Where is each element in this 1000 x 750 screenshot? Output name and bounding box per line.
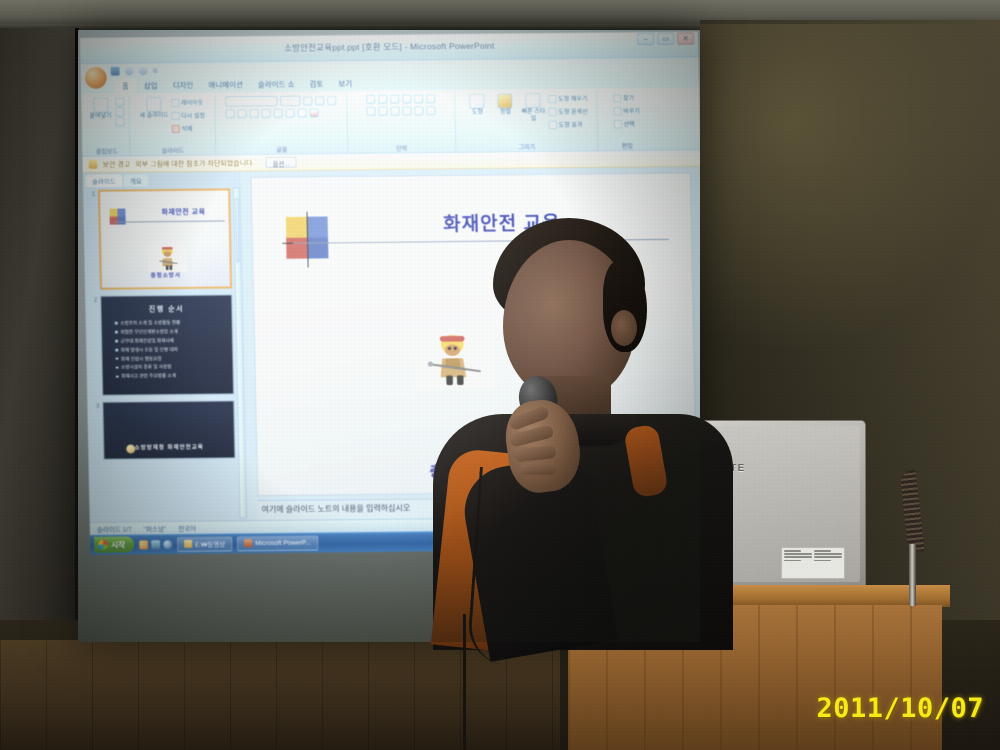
ribbon-group-slides[interactable]: 새 슬라이드 레이아웃 다시 설정	[129, 95, 216, 156]
show-desktop-icon[interactable]	[151, 540, 160, 549]
shapes-button[interactable]: 도형	[464, 94, 490, 117]
wall-right-highlight	[700, 24, 1000, 354]
reset-icon	[171, 111, 179, 119]
language-indicator[interactable]: 한국어	[178, 523, 196, 533]
label-line	[784, 553, 812, 555]
customize-qat-icon[interactable]	[153, 68, 158, 73]
find-button[interactable]: 찾기	[613, 92, 640, 103]
ribbon-group-clipboard[interactable]: 붙여넣기 클립보드	[83, 95, 130, 155]
camera-date-stamp: 2011/10/07	[816, 693, 984, 724]
reset-button[interactable]: 다시 설정	[171, 110, 205, 121]
thumbnail-item[interactable]: 3 소방방재청 화재안전교육	[93, 400, 243, 460]
tab-view[interactable]: 보기	[331, 77, 359, 91]
list-item-label: 소방시설의 종류 및 사용법	[121, 364, 171, 370]
shape-effects-label: 도형 효과	[559, 120, 583, 129]
taskbar-item-label: Microsoft PowerP...	[255, 539, 311, 547]
replace-label: 바꾸기	[623, 106, 640, 115]
title-underline	[113, 220, 225, 222]
window-title: 소방안전교육ppt.ppt [호환 모드] - Microsoft PowerP…	[80, 38, 698, 56]
label-line	[784, 560, 801, 562]
grow-font-icon[interactable]	[303, 96, 312, 105]
lecture-room: 소방안전교육ppt.ppt [호환 모드] - Microsoft PowerP…	[0, 0, 1000, 750]
replace-icon	[613, 107, 621, 115]
label-line	[784, 550, 801, 552]
bullets-icon[interactable]	[366, 95, 375, 104]
media-player-icon[interactable]	[163, 540, 172, 549]
finger	[520, 463, 556, 475]
minimize-icon[interactable]: –	[637, 33, 654, 45]
tab-outline[interactable]: 개요	[124, 174, 148, 186]
shrink-font-icon[interactable]	[315, 96, 324, 105]
layout-label: 레이아웃	[181, 98, 203, 107]
label-line	[814, 550, 831, 552]
start-label: 시작	[111, 539, 125, 550]
character-spacing-icon[interactable]	[285, 109, 294, 118]
thumbnail-list[interactable]: 1 화재안전 교육	[83, 185, 248, 522]
font-family-select[interactable]	[225, 96, 277, 107]
office-button-icon[interactable]	[84, 66, 108, 90]
select-label: 선택	[623, 119, 634, 128]
font-size-select[interactable]	[280, 96, 300, 106]
thumbnail-slide-2[interactable]: 진행 순서 소방조직 소개 및 소방활동 현황 위험한 무인인계판소방장 소개 …	[100, 294, 234, 395]
group-label-slides: 슬라이드	[130, 146, 215, 156]
start-button[interactable]: 시작	[94, 536, 134, 552]
paste-button[interactable]: 붙여넣기	[87, 98, 113, 121]
powerpoint-icon	[244, 539, 252, 547]
quick-styles-label: 빠른 스타일	[520, 109, 546, 122]
arrange-label: 정렬	[500, 109, 511, 116]
warning-shield-icon	[88, 160, 97, 169]
cursor-select-icon	[613, 120, 621, 128]
finger	[513, 445, 556, 462]
tab-slideshow[interactable]: 슬라이드 쇼	[251, 78, 302, 93]
windows-logo-icon	[98, 540, 108, 550]
list-item: 군부대 화재진압및 화재사례	[115, 337, 226, 344]
font-color-icon[interactable]	[309, 109, 318, 118]
replace-button[interactable]: 바꾸기	[613, 105, 640, 116]
security-warning-message: 외부 그림에 대한 참조가 차단되었습니다.	[135, 158, 254, 169]
columns-icon[interactable]	[414, 106, 423, 115]
list-item-label: 소방조직 소개 및 소방활동 현황	[120, 320, 180, 326]
redo-icon[interactable]	[139, 66, 148, 75]
list-item-label: 화재사고 관련 주요법률 소개	[121, 373, 176, 379]
gooseneck	[900, 469, 924, 552]
tab-design[interactable]: 디자인	[166, 79, 201, 93]
presenter-person	[415, 218, 735, 638]
scrollbar-thumb[interactable]	[235, 198, 239, 262]
asset-label-column-right	[814, 550, 842, 576]
bullet-icon	[115, 358, 118, 361]
bullet-icon	[116, 375, 119, 378]
undo-icon[interactable]	[125, 66, 134, 75]
shape-effects-icon	[549, 121, 557, 129]
cut-icon[interactable]	[115, 98, 124, 107]
close-icon[interactable]: ✕	[677, 33, 694, 45]
folder-icon	[184, 540, 192, 548]
ribbon-group-editing[interactable]: 찾기 바꾸기 선택	[597, 90, 656, 151]
ribbon-group-paragraph[interactable]: 단락	[347, 92, 456, 153]
thumbnail-item[interactable]: 1 화재안전 교육	[89, 188, 240, 290]
ribbon-group-font[interactable]: 글꼴	[215, 93, 348, 154]
thumbnail-title: 진행 순서	[101, 303, 231, 314]
underline-icon[interactable]	[249, 109, 258, 118]
label-line	[814, 556, 842, 558]
decrease-indent-icon[interactable]	[390, 95, 399, 104]
bullet-icon	[115, 340, 118, 343]
select-button[interactable]: 선택	[613, 118, 640, 129]
group-label-paragraph: 단락	[348, 143, 455, 153]
paste-label: 붙여넣기	[89, 114, 111, 121]
logo-squares-icon	[286, 216, 331, 260]
security-warning-label: 보안 경고	[102, 159, 130, 169]
slide-thumbnail-pane[interactable]: 슬라이드 개요 1	[83, 171, 248, 522]
bold-icon[interactable]	[225, 109, 234, 118]
ear	[611, 310, 637, 346]
internet-explorer-icon[interactable]	[139, 540, 148, 549]
tab-animations[interactable]: 애니메이션	[201, 78, 250, 93]
security-options-button[interactable]: 옵션...	[265, 157, 297, 168]
taskbar-item-powerpoint[interactable]: Microsoft PowerP...	[237, 535, 318, 551]
label-line	[784, 556, 812, 558]
quick-styles-icon	[526, 93, 541, 108]
layout-button[interactable]: 레이아웃	[171, 97, 205, 108]
restore-icon[interactable]: ▭	[657, 33, 674, 45]
new-slide-label: 새 슬라이드	[140, 113, 169, 120]
shape-fill-button[interactable]: 도형 채우기	[548, 93, 588, 104]
ribbon[interactable]: 홈 삽입 디자인 애니메이션 슬라이드 쇼 검토 보기 붙여넣기	[81, 58, 700, 157]
text-direction-icon[interactable]	[426, 94, 435, 103]
list-item: 화재 발생시 초등 및 인명 대피	[115, 346, 226, 353]
thumbnail-subtitle: 충청소방서	[102, 270, 230, 279]
thumbnail-number: 3	[93, 402, 100, 460]
shapes-icon	[470, 94, 485, 109]
delete-icon	[171, 124, 179, 132]
taskbar-item-label: E:₩동영상	[195, 538, 225, 548]
ribbon-body[interactable]: 붙여넣기 클립보드	[81, 88, 700, 156]
align-left-icon[interactable]	[366, 107, 375, 116]
tab-slides[interactable]: 슬라이드	[86, 175, 122, 187]
format-painter-icon[interactable]	[116, 118, 125, 127]
numbering-icon[interactable]	[378, 95, 387, 104]
arrange-icon	[498, 93, 513, 108]
save-icon[interactable]	[111, 67, 120, 76]
list-item: 소방조직 소개 및 소방활동 현황	[115, 319, 226, 326]
thumbnail-footer: 소방방재청 화재안전교육	[104, 442, 234, 451]
text-shadow-icon[interactable]	[261, 109, 270, 118]
shape-outline-label: 도형 윤곽선	[558, 107, 587, 116]
justify-icon[interactable]	[402, 107, 411, 116]
quick-launch-bar[interactable]	[139, 540, 172, 549]
align-right-icon[interactable]	[390, 107, 399, 116]
taskbar-item-folder[interactable]: E:₩동영상	[177, 536, 233, 552]
microphone-cable-lower	[463, 614, 483, 750]
group-label-drawing: 그리기	[456, 142, 597, 152]
theme-name: "퍼스널"	[144, 523, 167, 533]
slide-counter: 슬라이드 1/7	[97, 523, 132, 533]
firefighter-mascot-icon	[148, 242, 187, 272]
thumbnail-number: 2	[91, 296, 99, 396]
firefighter-svg	[149, 243, 186, 271]
bullet-icon	[116, 366, 119, 369]
thumbnail-slide-1[interactable]: 화재안전 교육	[98, 188, 232, 289]
bullet-icon	[115, 331, 118, 334]
group-label-editing: 편집	[598, 141, 656, 151]
italic-icon[interactable]	[237, 109, 246, 118]
shape-fill-icon	[548, 95, 556, 103]
list-item: 위험한 무인인계판소방장 소개	[115, 328, 226, 335]
delete-label: 삭제	[181, 124, 192, 133]
label-line	[814, 553, 842, 555]
shape-effects-button[interactable]: 도형 효과	[549, 119, 589, 130]
paste-icon	[93, 98, 108, 113]
new-slide-button[interactable]: 새 슬라이드	[139, 97, 169, 120]
thumbnail-bullet-list: 소방조직 소개 및 소방활동 현황 위험한 무인인계판소방장 소개 군부대 화재…	[115, 319, 227, 382]
wall-left	[0, 28, 78, 668]
arrange-button[interactable]: 정렬	[492, 93, 518, 116]
gooseneck-microphone	[900, 470, 926, 602]
increase-indent-icon[interactable]	[402, 95, 411, 104]
logo-squares-icon	[109, 209, 126, 226]
asset-label-column-left	[784, 550, 812, 576]
thumbnail-title: 화재안전 교육	[140, 206, 226, 217]
search-icon	[613, 94, 621, 102]
label-line	[814, 560, 831, 562]
thumbnail-slide-3[interactable]: 소방방재청 화재안전교육	[102, 400, 235, 459]
reset-label: 다시 설정	[181, 111, 205, 120]
quick-styles-button[interactable]: 빠른 스타일	[520, 93, 547, 122]
align-center-icon[interactable]	[378, 107, 387, 116]
find-label: 찾기	[623, 93, 634, 102]
change-case-icon[interactable]	[297, 109, 306, 118]
tab-home[interactable]: 홈	[115, 79, 136, 93]
shapes-label: 도형	[472, 110, 483, 117]
ribbon-group-drawing[interactable]: 도형 정렬 빠른 스타일	[455, 91, 598, 152]
list-item-label: 화재 진압시 행동요령	[121, 356, 162, 362]
window-controls[interactable]: – ▭ ✕	[637, 33, 694, 46]
list-item-label: 화재 발생시 초등 및 인명 대피	[121, 347, 178, 353]
group-label-font: 글꼴	[216, 144, 347, 154]
bullet-icon	[115, 322, 118, 325]
shape-outline-icon	[548, 108, 556, 116]
list-item-label: 위험한 무인인계판소방장 소개	[120, 329, 178, 335]
shape-outline-button[interactable]: 도형 윤곽선	[548, 106, 588, 117]
copy-icon[interactable]	[115, 108, 124, 117]
list-item: 화재사고 관련 주요법률 소개	[116, 373, 227, 380]
thumbnail-number: 1	[89, 190, 97, 290]
strikethrough-icon[interactable]	[273, 109, 282, 118]
convert-to-smartart-icon[interactable]	[426, 106, 435, 115]
group-label-clipboard: 클립보드	[84, 146, 129, 155]
delete-slide-button[interactable]: 삭제	[171, 123, 205, 134]
layout-icon	[171, 98, 179, 106]
list-item-label: 군부대 화재진압및 화재사례	[121, 338, 174, 344]
asset-label-sticker	[781, 547, 845, 579]
bullet-icon	[115, 349, 118, 352]
tab-insert[interactable]: 삽입	[137, 79, 165, 93]
mic-pole	[909, 544, 916, 606]
clear-formatting-icon[interactable]	[327, 96, 336, 105]
shape-fill-label: 도형 채우기	[558, 94, 587, 103]
list-item: 소방시설의 종류 및 사용법	[116, 364, 227, 371]
new-slide-icon	[146, 97, 161, 112]
line-spacing-icon[interactable]	[414, 94, 423, 103]
tab-review[interactable]: 검토	[302, 77, 330, 91]
thumbnail-item[interactable]: 2 진행 순서 소방조직 소개 및 소방활동 현황 위험한 무인인계판소방장 소…	[91, 294, 242, 396]
list-item: 화재 진압시 행동요령	[115, 355, 226, 362]
